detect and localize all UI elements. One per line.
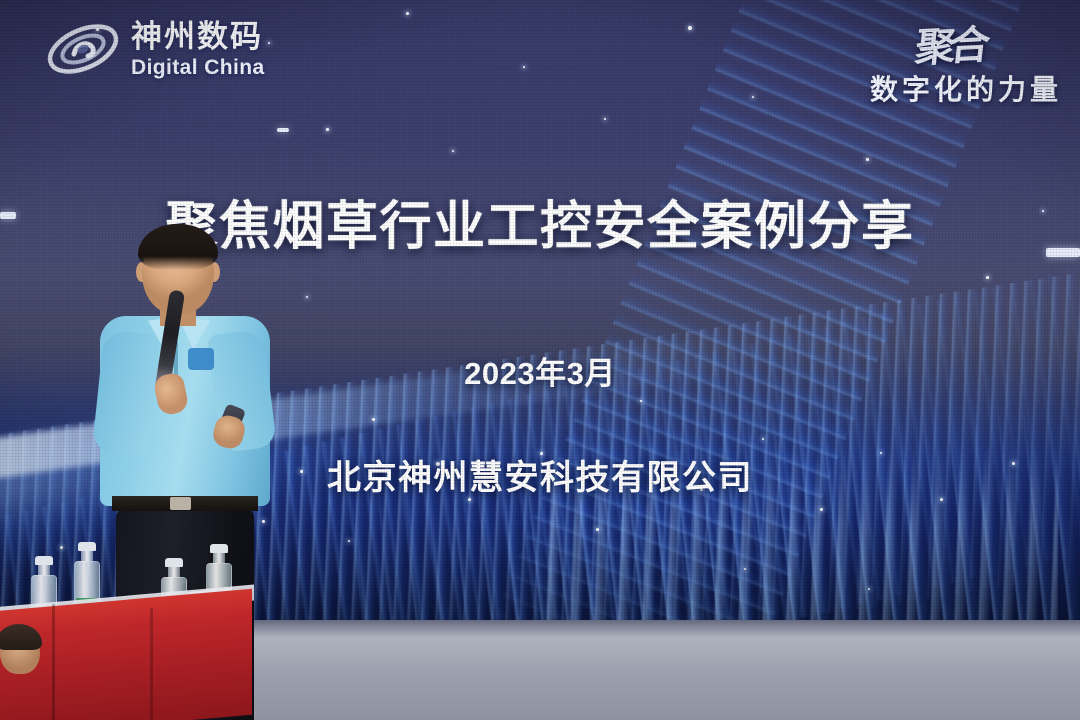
event-logo-tagline: 数字化的力量 (870, 68, 1062, 108)
event-logo: 聚合 数字化的力量 (870, 14, 1062, 108)
digital-china-name-cn: 神州数码 (131, 21, 265, 52)
speaker-hair (138, 224, 218, 270)
digital-china-swirl-icon (44, 18, 122, 80)
speaker-belt-buckle (170, 497, 191, 510)
screenshot-root: 神州数码 Digital China 聚合 数字化的力量 聚焦烟草行业工控安全案… (0, 0, 1080, 720)
digital-china-name-en: Digital China (131, 57, 265, 78)
fiber-strands (356, 397, 1080, 622)
digital-china-logo: 神州数码 Digital China (44, 18, 265, 80)
table-cloth-fold (52, 604, 55, 720)
table-cloth-fold (150, 608, 153, 720)
event-logo-calligraphy: 聚合 (913, 12, 988, 73)
screen-edge-accent-top-left (277, 128, 289, 132)
speaker-shirt-logo (188, 348, 214, 370)
